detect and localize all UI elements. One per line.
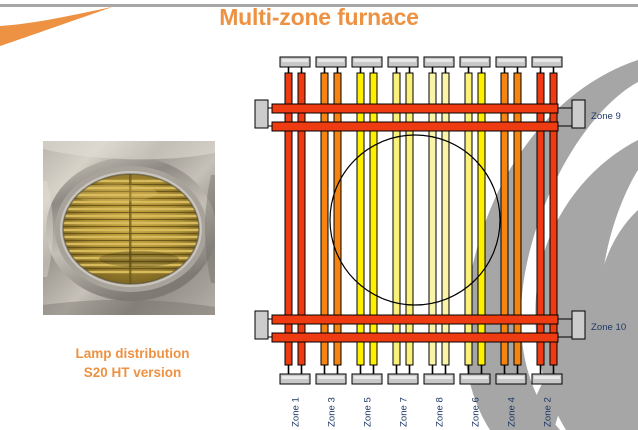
lamp-cap-assembly (280, 57, 310, 73)
lamp-cap-highlight (534, 59, 560, 62)
furnace-photo (43, 141, 215, 315)
bottom-zone-label: Zone 4 (507, 396, 518, 427)
lamp-cap-highlight (282, 376, 308, 379)
lamp-cap-highlight (390, 59, 416, 62)
bottom-zone-label: Zone 5 (363, 397, 374, 427)
lamp-cap-assembly (316, 365, 346, 384)
lamp-cap-assembly (460, 365, 490, 384)
lamp-cap-assembly (316, 57, 346, 73)
bottom-zone-label: Zone 1 (291, 397, 302, 427)
lamp-cap-highlight (534, 376, 560, 379)
lamp-cap-assembly (280, 365, 310, 384)
lamp-cap-highlight (498, 59, 524, 62)
lamp-cap-assembly (460, 57, 490, 73)
caption-line-2: S20 HT version (40, 363, 225, 382)
lamp-cap-highlight (318, 59, 344, 62)
bottom-zone-labels-layer: Zone 1Zone 3Zone 5Zone 7Zone 8Zone 6Zone… (291, 396, 554, 427)
lamp-cap-highlight (318, 376, 344, 379)
lamp-cap-assembly (496, 57, 526, 73)
lamp-cap-assembly (424, 365, 454, 384)
bottom-zone-label: Zone 8 (435, 397, 446, 427)
lamp-cap-highlight (498, 376, 524, 379)
wafer-outline-circle (330, 135, 500, 305)
lamp-distribution-diagram: Zone 1Zone 3Zone 5Zone 7Zone 8Zone 6Zone… (255, 55, 585, 430)
bottom-zone-label: Zone 2 (543, 397, 554, 427)
bottom-zone-label: Zone 6 (471, 397, 482, 427)
lamp-cap-highlight (462, 376, 488, 379)
side-label-zone-10: Zone 10 (591, 322, 626, 333)
bottom-zone-label: Zone 7 (399, 397, 410, 427)
lamp-cap-highlight (354, 59, 380, 62)
lamp-cap-assembly (496, 365, 526, 384)
lamp-cap-highlight (390, 376, 416, 379)
lamp-cap-assembly (388, 365, 418, 384)
caption-line-1: Lamp distribution (40, 344, 225, 363)
furnace-photo-image (43, 141, 215, 315)
lamp-cap-highlight (282, 59, 308, 62)
side-label-zone-9: Zone 9 (591, 111, 621, 122)
lamp-cap-assembly (532, 57, 562, 73)
lamp-cap-assembly (352, 365, 382, 384)
lamp-cap-highlight (426, 59, 452, 62)
lamp-cap-highlight (354, 376, 380, 379)
page-title: Multi-zone furnace (0, 4, 638, 31)
bottom-zone-label: Zone 3 (327, 397, 338, 427)
lamp-cap-highlight (462, 59, 488, 62)
lamp-diagram-svg: Zone 1Zone 3Zone 5Zone 7Zone 8Zone 6Zone… (255, 55, 585, 430)
lamp-cap-assembly (532, 365, 562, 384)
lamp-cap-assembly (424, 57, 454, 73)
lamp-cap-assembly (352, 57, 382, 73)
lamp-cap-assembly (388, 57, 418, 73)
photo-caption: Lamp distribution S20 HT version (40, 344, 225, 382)
slide-canvas: Multi-zone furnace (0, 0, 638, 430)
lamp-cap-highlight (426, 376, 452, 379)
